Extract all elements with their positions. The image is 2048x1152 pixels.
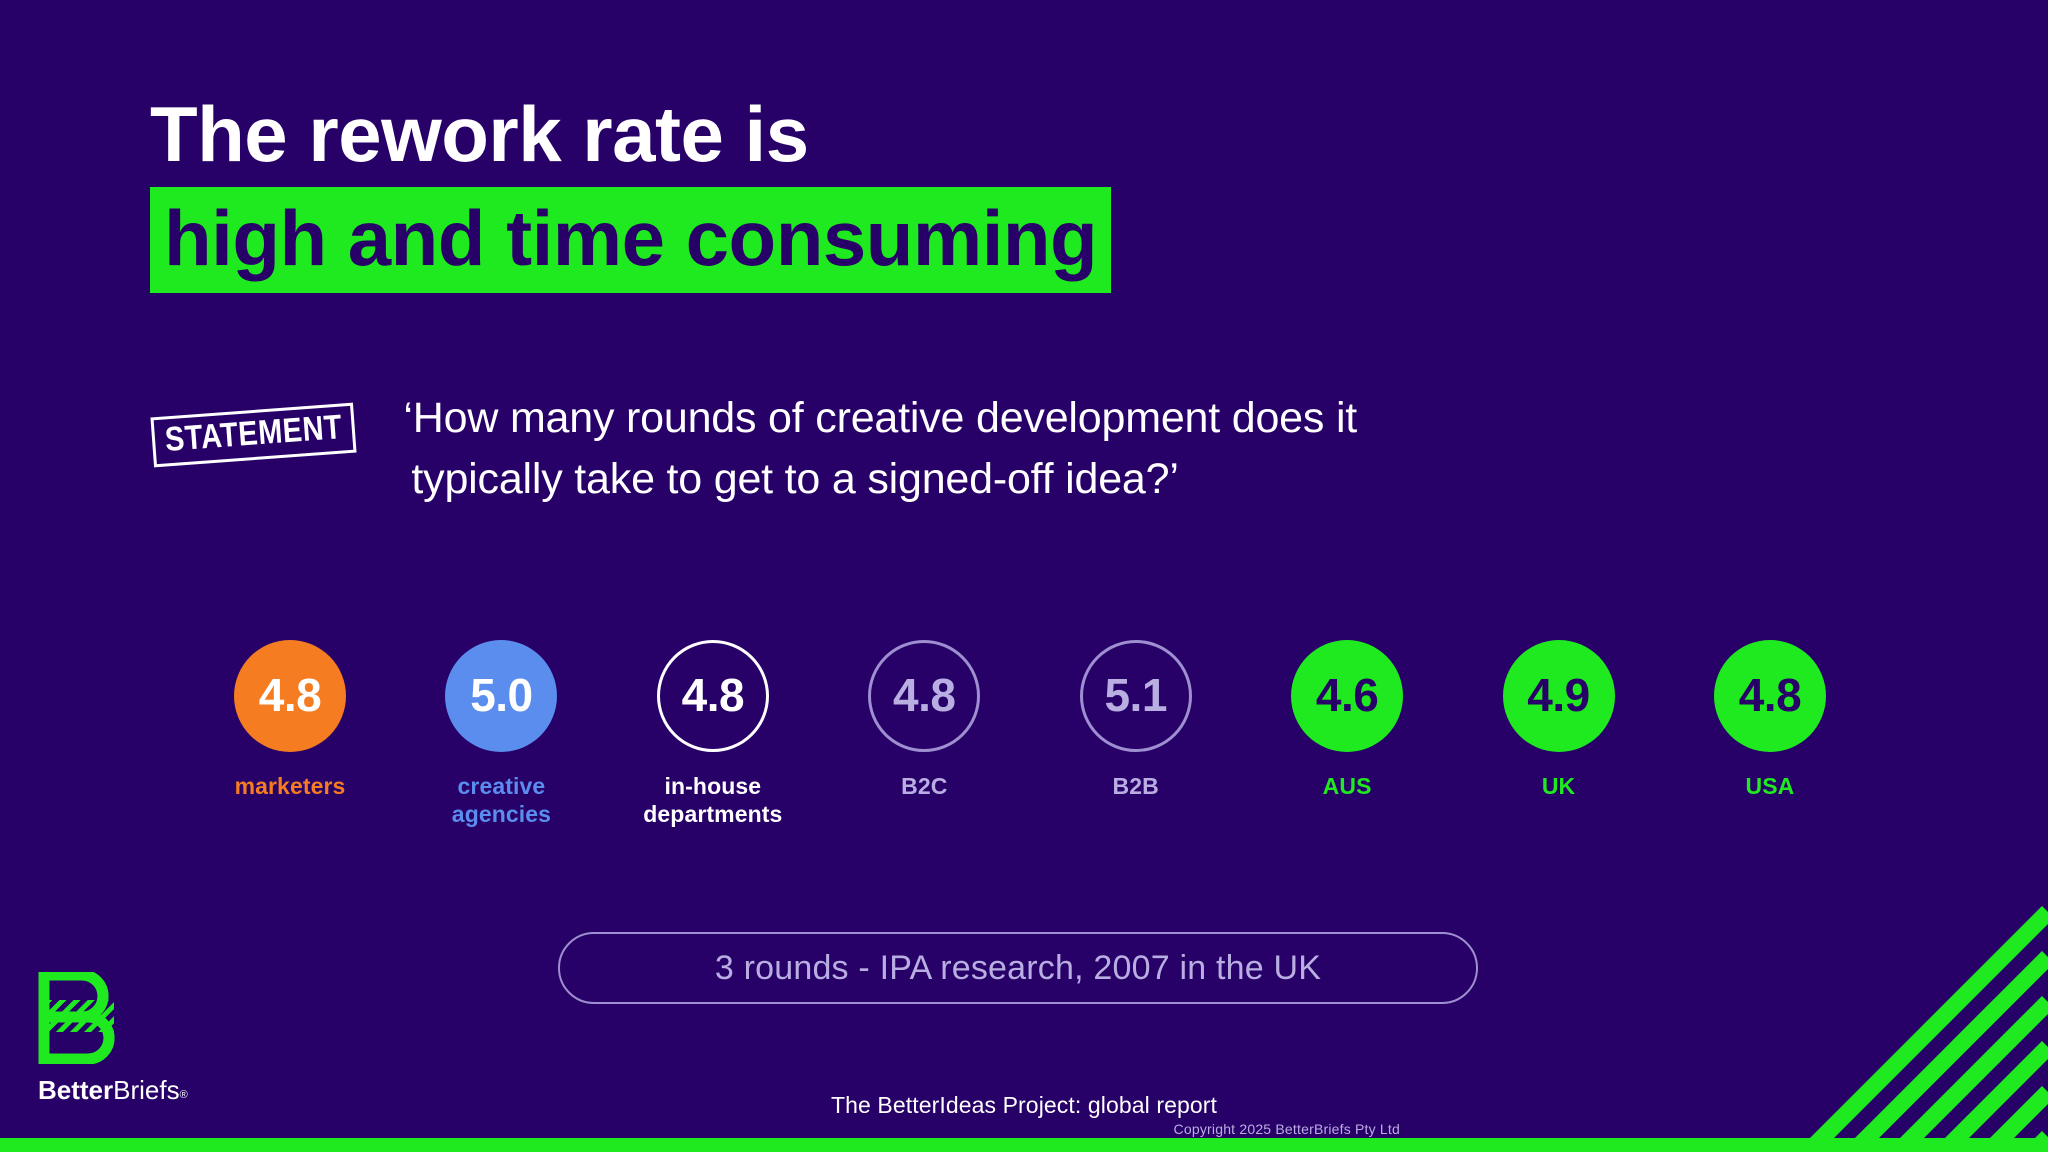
stat-item: 4.9UK [1459, 640, 1659, 800]
stat-circle: 4.8 [657, 640, 769, 752]
stat-value: 4.8 [1739, 672, 1801, 718]
question-text: ‘How many rounds of creative development… [403, 388, 1357, 510]
stat-label-line: AUS [1323, 772, 1372, 800]
stat-item: 5.0creativeagencies [401, 640, 601, 828]
statement-badge-label: STATEMENT [164, 411, 343, 458]
footer-report-title: The BetterIdeas Project: global report [0, 1092, 2048, 1119]
stat-label-line: B2B [1113, 772, 1159, 800]
stat-label: USA [1746, 772, 1795, 800]
stat-circle: 4.6 [1291, 640, 1403, 752]
stat-label: B2C [901, 772, 947, 800]
stat-label-line: in-house [643, 772, 782, 800]
stat-circle: 4.8 [1714, 640, 1826, 752]
page-title-line-1: The rework rate is [150, 95, 1450, 173]
bottom-accent-bar [0, 1138, 2048, 1152]
stat-value: 4.8 [682, 672, 744, 718]
stat-item: 4.8B2C [824, 640, 1024, 800]
stats-row: 4.8marketers5.0creativeagencies4.8in-hou… [190, 640, 1870, 828]
stat-label: creativeagencies [452, 772, 551, 828]
stat-item: 4.6AUS [1247, 640, 1447, 800]
statement-badge: STATEMENT [150, 403, 357, 468]
title-highlight-wrap: high and time consuming [150, 187, 1111, 293]
stat-circle: 4.8 [868, 640, 980, 752]
stat-circle: 4.9 [1503, 640, 1615, 752]
stat-circle: 5.1 [1080, 640, 1192, 752]
stat-value: 4.8 [893, 672, 955, 718]
stat-value: 5.0 [470, 672, 532, 718]
stat-value: 4.9 [1527, 672, 1589, 718]
stat-label-line: marketers [235, 772, 346, 800]
stat-value: 5.1 [1104, 672, 1166, 718]
stat-item: 4.8in-housedepartments [613, 640, 813, 828]
stat-label-line: UK [1542, 772, 1575, 800]
stat-label: UK [1542, 772, 1575, 800]
title-block: The rework rate is high and time consumi… [150, 95, 1450, 293]
stat-item: 4.8USA [1670, 640, 1870, 800]
betterbriefs-b-icon [38, 972, 120, 1064]
stat-label: AUS [1323, 772, 1372, 800]
slide-canvas: The rework rate is high and time consumi… [0, 0, 2048, 1152]
stat-item: 4.8marketers [190, 640, 390, 800]
brand-logo: BetterBriefs® [38, 972, 228, 1103]
stat-label-line: B2C [901, 772, 947, 800]
source-note-pill: 3 rounds - IPA research, 2007 in the UK [558, 932, 1478, 1004]
question-line-1: ‘How many rounds of creative development… [403, 388, 1357, 449]
stat-label: B2B [1113, 772, 1159, 800]
stat-label-line: creative [452, 772, 551, 800]
stat-item: 5.1B2B [1036, 640, 1236, 800]
stat-circle: 4.8 [234, 640, 346, 752]
stat-label: marketers [235, 772, 346, 800]
stat-circle: 5.0 [445, 640, 557, 752]
footer-copyright: Copyright 2025 BetterBriefs Pty Ltd [1174, 1121, 1400, 1137]
statement-row: STATEMENT ‘How many rounds of creative d… [152, 388, 1852, 510]
stat-label-line: USA [1746, 772, 1795, 800]
question-line-2: typically take to get to a signed-off id… [403, 449, 1357, 510]
stat-value: 4.6 [1316, 672, 1378, 718]
stat-label-line: agencies [452, 800, 551, 828]
stat-label-line: departments [643, 800, 782, 828]
source-note-text: 3 rounds - IPA research, 2007 in the UK [715, 949, 1321, 988]
stat-label: in-housedepartments [643, 772, 782, 828]
page-title-line-2-highlighted: high and time consuming [150, 187, 1111, 293]
stat-value: 4.8 [259, 672, 321, 718]
